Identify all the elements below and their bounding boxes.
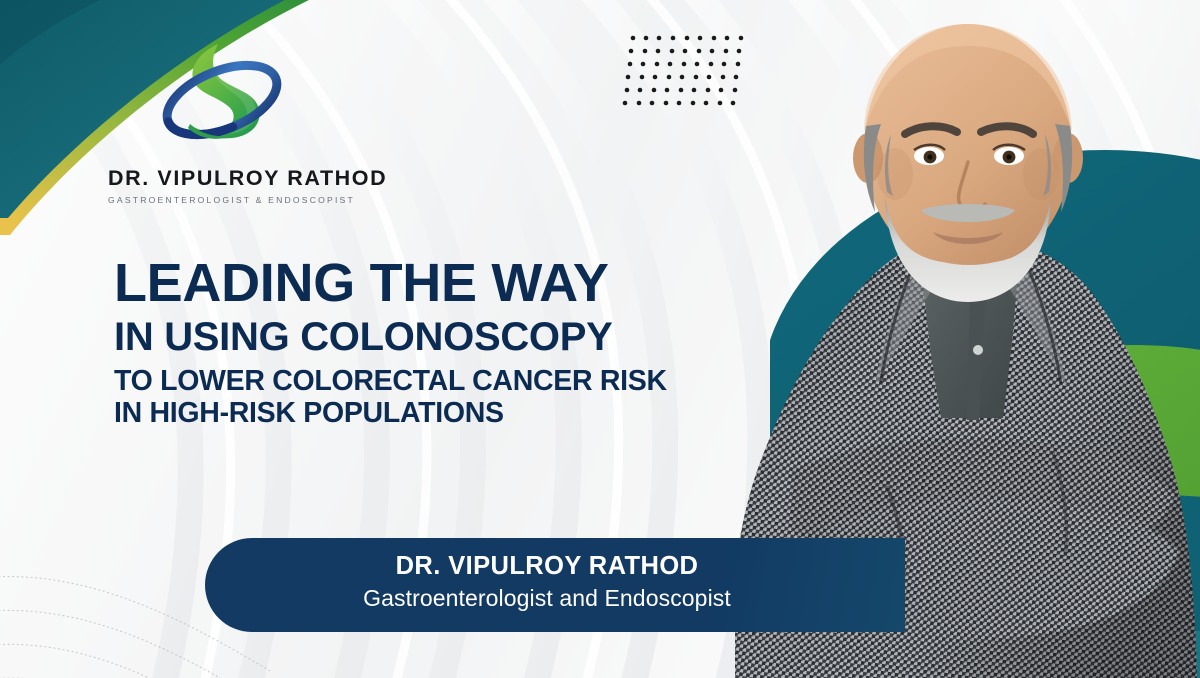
headline-line-4: IN HIGH-RISK POPULATIONS <box>114 399 734 429</box>
promo-banner: DR. VIPULROY RATHOD GASTROENTEROLOGIST &… <box>0 0 1200 678</box>
headline-line-1: LEADING THE WAY <box>114 255 734 311</box>
brand-logo[interactable]: DR. VIPULROY RATHOD GASTROENTEROLOGIST &… <box>108 36 336 205</box>
presenter-name: DR. VIPULROY RATHOD <box>245 551 849 582</box>
logo-tagline: GASTROENTEROLOGIST & ENDOSCOPIST <box>108 195 336 205</box>
presenter-role: Gastroenterologist and Endoscopist <box>245 584 849 613</box>
logo-doctor-name: DR. VIPULROY RATHOD <box>108 166 336 191</box>
headline-block: LEADING THE WAY IN USING COLONOSCOPY TO … <box>114 255 734 429</box>
headline-line-2: IN USING COLONOSCOPY <box>114 317 734 359</box>
headline-line-3: TO LOWER COLORECTAL CANCER RISK <box>114 367 734 397</box>
stomach-orbit-logo-icon <box>156 36 288 158</box>
presenter-name-banner: DR. VIPULROY RATHOD Gastroenterologist a… <box>205 538 905 632</box>
